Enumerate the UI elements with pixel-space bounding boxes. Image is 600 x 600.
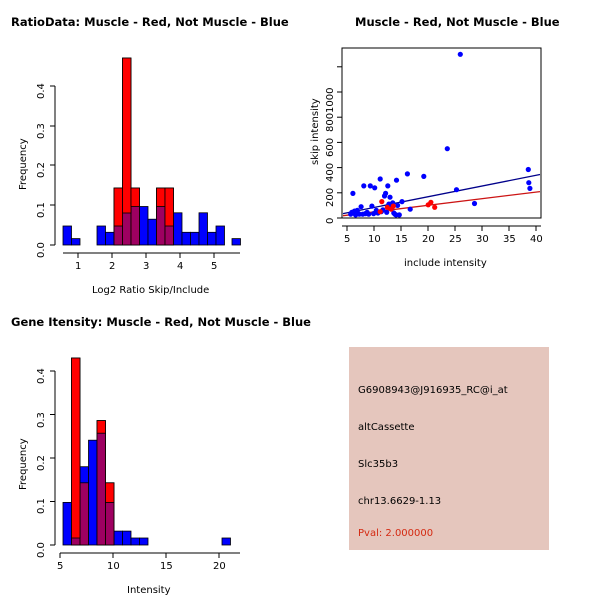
gene-xtick-1: 10 [107, 561, 120, 572]
ratio-histogram-panel: RatioData: Muscle - Red, Not Muscle - Bl… [0, 0, 300, 300]
scatter-xtick-5: 30 [476, 234, 489, 245]
gene-symbol-text: Slc35b3 [358, 459, 398, 470]
scatter-plot [300, 0, 600, 300]
scatter-xlabel: include intensity [404, 258, 487, 269]
ratio-histogram-ylabel: Frequency [18, 138, 29, 190]
scatter-ytick-1: 200 [325, 188, 336, 207]
gene-id-text: G6908943@J916935_RC@i_at [358, 385, 508, 396]
ratio-ytick-2: 0.2 [36, 162, 47, 178]
gene-intensity-histogram-panel: Gene Itensity: Muscle - Red, Not Muscle … [0, 300, 320, 600]
gene-info-box: G6908943@J916935_RC@i_at altCassette Slc… [349, 347, 549, 550]
location-text: chr13.6629-1.13 [358, 496, 441, 507]
gene-ytick-2: 0.2 [36, 455, 47, 471]
gene-intensity-plot [0, 300, 320, 600]
scatter-xtick-7: 40 [530, 234, 543, 245]
ratio-xtick-3: 4 [177, 261, 183, 272]
gene-ytick-1: 0.1 [36, 498, 47, 514]
scatter-title: Muscle - Red, Not Muscle - Blue [355, 15, 560, 29]
ratio-ytick-1: 0.1 [36, 202, 47, 218]
scatter-ytick-5: 1000 [325, 88, 336, 113]
ratio-xtick-0: 1 [75, 261, 81, 272]
event-type-text: altCassette [358, 422, 415, 433]
ratio-histogram-title: RatioData: Muscle - Red, Not Muscle - Bl… [11, 15, 289, 29]
gene-intensity-ylabel: Frequency [18, 438, 29, 490]
scatter-ytick-3: 600 [325, 138, 336, 157]
scatter-ytick-2: 400 [325, 163, 336, 182]
ratio-ytick-0: 0.0 [36, 242, 47, 258]
scatter-xtick-6: 35 [503, 234, 516, 245]
gene-intensity-xlabel: Intensity [127, 585, 171, 596]
gene-xtick-2: 15 [160, 561, 173, 572]
scatter-ytick-0: 0 [325, 218, 336, 224]
ratio-xtick-4: 5 [211, 261, 217, 272]
scatter-ytick-4: 800 [325, 113, 336, 132]
scatter-xtick-0: 5 [344, 234, 350, 245]
scatter-panel: Muscle - Red, Not Muscle - Blue [300, 0, 600, 300]
scatter-points-blue [348, 52, 532, 218]
gene-ytick-0: 0.0 [36, 542, 47, 558]
gene-ytick-3: 0.3 [36, 412, 47, 428]
gene-intensity-title: Gene Itensity: Muscle - Red, Not Muscle … [11, 315, 311, 329]
scatter-xtick-4: 25 [449, 234, 462, 245]
ratio-ytick-3: 0.3 [36, 123, 47, 139]
scatter-xtick-2: 15 [395, 234, 408, 245]
ratio-histogram-xlabel: Log2 Ratio Skip/Include [92, 285, 209, 296]
scatter-ylabel: skip intensity [310, 98, 321, 165]
gene-xtick-0: 5 [57, 561, 63, 572]
scatter-xtick-3: 20 [422, 234, 435, 245]
scatter-xtick-1: 10 [368, 234, 381, 245]
gene-xtick-3: 20 [213, 561, 226, 572]
ratio-ytick-4: 0.4 [36, 83, 47, 99]
ratio-xtick-1: 2 [109, 261, 115, 272]
pval-text: Pval: 2.000000 [358, 528, 433, 539]
gene-ytick-4: 0.4 [36, 368, 47, 384]
ratio-xtick-2: 3 [143, 261, 149, 272]
